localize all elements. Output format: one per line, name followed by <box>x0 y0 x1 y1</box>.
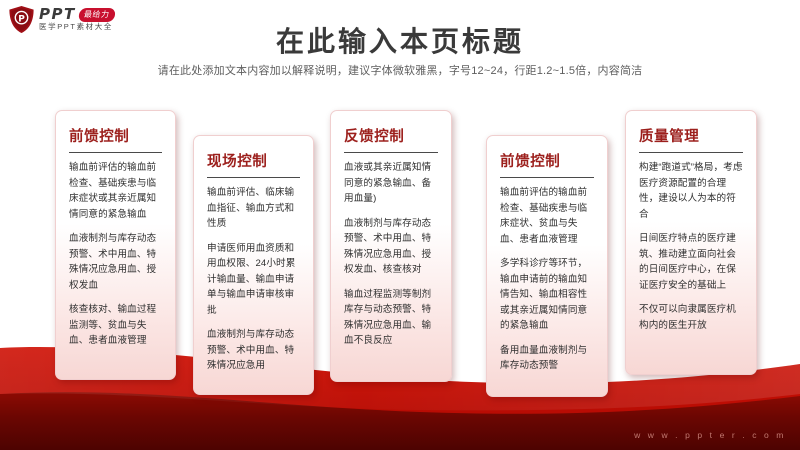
card-title: 前馈控制 <box>69 125 162 146</box>
card-paragraph: 不仅可以向隶属医疗机构内的医生开放 <box>639 302 743 333</box>
content-card[interactable]: 现场控制 输血前评估、临床输血指征、输血方式和性质 申请医师用血资质和用血权限、… <box>193 135 314 395</box>
card-paragraph: 日间医疗特点的医疗建筑、推动建立面向社会的日间医疗中心，在保证医疗安全的基础上 <box>639 231 743 293</box>
page-title: 在此输入本页标题 <box>0 20 800 60</box>
card-paragraph: 输血前评估的输血前检查、基础疾患与临床症状、贫血与失血、患者血液管理 <box>500 185 594 247</box>
card-paragraph: 输血过程监测等制剂库存与动态预警、特殊情况应急用血、输血不良反应 <box>344 287 438 349</box>
card-divider <box>69 152 162 153</box>
card-paragraph: 备用血量血液制剂与库存动态预警 <box>500 343 594 374</box>
page-subtitle: 请在此处添加文本内容加以解释说明，建议字体微软雅黑，字号12~24，行距1.2~… <box>0 62 800 78</box>
card-paragraph: 血液制剂与库存动态预警、术中用血、特殊情况应急用 <box>207 327 300 374</box>
card-paragraph: 申请医师用血资质和用血权限、24小时累计输血量、输血申请单与输血申请审核审批 <box>207 241 300 319</box>
card-paragraph: 构建“跑道式”格局，考虑医疗资源配置的合理性，建设以人为本的符合 <box>639 160 743 222</box>
card-title: 前馈控制 <box>500 150 594 171</box>
card-paragraph: 输血前评估、临床输血指征、输血方式和性质 <box>207 185 300 232</box>
content-card[interactable]: 前馈控制 输血前评估的输血前检查、基础疾患与临床症状或其亲近属知情同意的紧急输血… <box>55 110 176 380</box>
card-divider <box>207 177 300 178</box>
card-paragraph: 血液制剂与库存动态预警、术中用血、特殊情况应急用血、授权发血、核查核对 <box>344 216 438 278</box>
card-paragraph: 多学科诊疗等环节，输血申请前的输血知情告知、输血相容性或其亲近属知情同意的紧急输… <box>500 256 594 334</box>
slide-canvas: P PPT 最给力 医学PPT素材大全 在此输入本页标题 请在此处添加文本内容加… <box>0 0 800 450</box>
card-title: 现场控制 <box>207 150 300 171</box>
content-card[interactable]: 前馈控制 输血前评估的输血前检查、基础疾患与临床症状、贫血与失血、患者血液管理 … <box>486 135 608 397</box>
card-divider <box>639 152 743 153</box>
card-paragraph: 血液制剂与库存动态预警、术中用血、特殊情况应急用血、授权发血 <box>69 231 162 293</box>
card-paragraph: 血液或其亲近属知情同意的紧急输血、备用血量) <box>344 160 438 207</box>
card-divider <box>500 177 594 178</box>
card-paragraph: 输血前评估的输血前检查、基础疾患与临床症状或其亲近属知情同意的紧急输血 <box>69 160 162 222</box>
card-title: 反馈控制 <box>344 125 438 146</box>
content-card[interactable]: 质量管理 构建“跑道式”格局，考虑医疗资源配置的合理性，建设以人为本的符合 日间… <box>625 110 757 375</box>
site-watermark: w w w . p p t e r . c o m <box>634 430 786 440</box>
card-paragraph: 核查核对、输血过程监测等、贫血与失血、患者血液管理 <box>69 302 162 349</box>
card-divider <box>344 152 438 153</box>
content-card[interactable]: 反馈控制 血液或其亲近属知情同意的紧急输血、备用血量) 血液制剂与库存动态预警、… <box>330 110 452 382</box>
card-title: 质量管理 <box>639 125 743 146</box>
